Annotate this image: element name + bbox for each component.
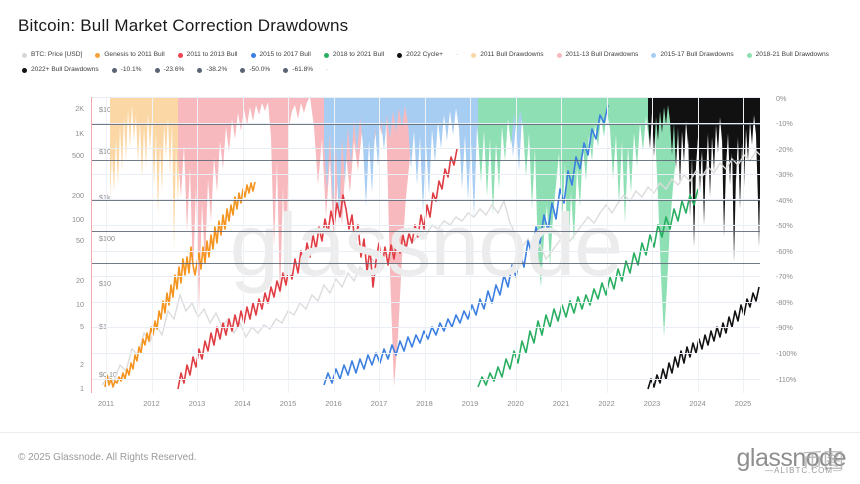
legend-swatch-icon xyxy=(471,53,476,58)
y-tick-right: -90% xyxy=(776,323,793,332)
legend-label: 2011 Bull Drawdowns xyxy=(480,52,543,59)
footer-divider xyxy=(0,432,860,433)
chart-page: Bitcoin: Bull Market Correction Drawdown… xyxy=(0,0,860,484)
y-tick-left: 500 xyxy=(58,151,84,160)
legend-item-2018-21-bull-drawdowns[interactable]: 2018-21 Bull Drawdowns xyxy=(747,52,829,59)
legend-label: -38.2% xyxy=(206,67,227,74)
legend-swatch-icon xyxy=(95,53,100,58)
chart-plot-area: 2K 1K 500 200 100 50 20 10 5 2 1 $100k $… xyxy=(0,88,860,408)
legend-swatch-icon xyxy=(112,68,117,73)
legend-swatch-icon xyxy=(197,68,202,73)
y-tick-right: -100% xyxy=(776,349,797,358)
legend-label: -23.6% xyxy=(164,67,185,74)
legend-item-2011-bull-drawdowns[interactable]: 2011 Bull Drawdowns xyxy=(471,52,543,59)
y-tick-left: 200 xyxy=(58,191,84,200)
x-tick: 2019 xyxy=(450,399,490,408)
x-tick: 2015 xyxy=(268,399,308,408)
gridline-year xyxy=(379,97,380,393)
legend-label: BTC: Price [USD] xyxy=(31,52,82,59)
y-tick-left: 50 xyxy=(58,236,84,245)
y-tick-left: 20 xyxy=(58,276,84,285)
x-tick: 2023 xyxy=(632,399,672,408)
legend-item-level-500[interactable]: -50.0% xyxy=(240,67,270,74)
x-tick: 2025 xyxy=(723,399,763,408)
gridline-minor xyxy=(92,251,760,252)
legend-label: 2011 to 2013 Bull xyxy=(187,52,238,59)
legend-swatch-icon xyxy=(557,53,562,58)
gridline-minor xyxy=(92,97,760,98)
gridline-year xyxy=(152,97,153,393)
legend-item-2018-2021-bull[interactable]: 2018 to 2021 Bull xyxy=(324,52,384,59)
gridline-minor xyxy=(92,327,760,328)
legend-item-level-382[interactable]: -38.2% xyxy=(197,67,227,74)
legend-item-2022-cycle[interactable]: 2022 Cycle+ xyxy=(397,52,443,59)
y-tick-right: -40% xyxy=(776,196,793,205)
x-tick: 2021 xyxy=(541,399,581,408)
x-tick: 2013 xyxy=(177,399,217,408)
y-tick-left: 100 xyxy=(58,215,84,224)
legend-swatch-icon xyxy=(651,53,656,58)
x-tick: 2018 xyxy=(405,399,445,408)
chart-legend: BTC: Price [USD] Genesis to 2011 Bull 20… xyxy=(22,48,840,77)
y-tick-right: -20% xyxy=(776,145,793,154)
x-tick: 2014 xyxy=(223,399,263,408)
legend-swatch-icon xyxy=(283,68,288,73)
gridline-minor xyxy=(92,276,760,277)
legend-swatch-icon xyxy=(747,53,752,58)
x-tick: 2017 xyxy=(359,399,399,408)
legend-item-spacer[interactable]: - xyxy=(456,52,458,59)
x-tick: 2022 xyxy=(587,399,627,408)
gridline-minor xyxy=(92,353,760,354)
y-tick-right: -60% xyxy=(776,247,793,256)
y-tick-right: -80% xyxy=(776,298,793,307)
gridline-year xyxy=(243,97,244,393)
legend-row-1: BTC: Price [USD] Genesis to 2011 Bull 20… xyxy=(22,48,840,62)
legend-swatch-icon xyxy=(240,68,245,73)
legend-swatch-icon xyxy=(324,53,329,58)
x-tick: 2024 xyxy=(678,399,718,408)
y-tick-right: -50% xyxy=(776,221,793,230)
y-tick-left: 1 xyxy=(58,384,84,393)
gridline-year xyxy=(561,97,562,393)
legend-swatch-icon xyxy=(22,53,27,58)
legend-item-level-236[interactable]: -23.6% xyxy=(155,67,185,74)
x-tick: 2012 xyxy=(132,399,172,408)
legend-item-level-10[interactable]: -10.1% xyxy=(112,67,142,74)
gridline-year xyxy=(743,97,744,393)
legend-label: - xyxy=(326,67,328,74)
gridline-year xyxy=(288,97,289,393)
legend-item-2022-bull-drawdowns[interactable]: 2022+ Bull Drawdowns xyxy=(22,67,99,74)
legend-swatch-icon xyxy=(22,68,27,73)
y-tick-right: 0% xyxy=(776,94,786,103)
gridline-minor xyxy=(92,379,760,380)
legend-label: 2018 to 2021 Bull xyxy=(333,52,384,59)
legend-label: -61.8% xyxy=(292,67,313,74)
legend-item-spacer-2[interactable]: - xyxy=(326,67,328,74)
gridline-year xyxy=(106,97,107,393)
y-tick-left: 1K xyxy=(58,129,84,138)
gridline-level-382 xyxy=(92,200,760,201)
copyright-text: © 2025 Glassnode. All Rights Reserved. xyxy=(18,452,197,463)
legend-item-2015-17-bull-drawdowns[interactable]: 2015-17 Bull Drawdowns xyxy=(651,52,733,59)
legend-item-btc-price[interactable]: BTC: Price [USD] xyxy=(22,52,82,59)
gridline-minor xyxy=(92,302,760,303)
gridline-level-236 xyxy=(92,160,760,161)
gridline-year xyxy=(652,97,653,393)
y-tick-left: 5 xyxy=(58,322,84,331)
legend-row-2: 2022+ Bull Drawdowns -10.1% -23.6% -38.2… xyxy=(22,63,840,77)
gridline-minor xyxy=(92,225,760,226)
y-tick-right: -70% xyxy=(776,272,793,281)
legend-label: Genesis to 2011 Bull xyxy=(104,52,164,59)
legend-item-2015-2017-bull[interactable]: 2015 to 2017 Bull xyxy=(251,52,311,59)
y-tick-right: -10% xyxy=(776,119,793,128)
gridline-minor xyxy=(92,174,760,175)
legend-label: 2018-21 Bull Drawdowns xyxy=(756,52,829,59)
gridline-minor xyxy=(92,148,760,149)
legend-swatch-icon xyxy=(251,53,256,58)
legend-item-level-618[interactable]: -61.8% xyxy=(283,67,313,74)
y-tick-left: 2K xyxy=(58,104,84,113)
gridline-year xyxy=(197,97,198,393)
legend-label: 2022 Cycle+ xyxy=(406,52,443,59)
y-tick-left: 2 xyxy=(58,360,84,369)
watermark-url: —ALIBTC.COM— xyxy=(765,466,842,475)
gridline-year xyxy=(470,97,471,393)
legend-item-2011-13-bull-drawdowns[interactable]: 2011-13 Bull Drawdowns xyxy=(557,52,639,59)
page-title: Bitcoin: Bull Market Correction Drawdown… xyxy=(18,16,348,36)
legend-item-2011-2013-bull[interactable]: 2011 to 2013 Bull xyxy=(178,52,238,59)
legend-label: 2015-17 Bull Drawdowns xyxy=(660,52,733,59)
gridline-level-10 xyxy=(92,124,760,125)
glassnode-logo: glassnode 币图 —ALIBTC.COM— xyxy=(696,442,846,480)
y-tick-right: -110% xyxy=(776,375,796,384)
gridline-year xyxy=(698,97,699,393)
gridline-year xyxy=(516,97,517,393)
gridline-year xyxy=(334,97,335,393)
plot-canvas: glassnode xyxy=(92,97,760,393)
legend-swatch-icon xyxy=(178,53,183,58)
legend-label: -50.0% xyxy=(249,67,270,74)
legend-label: -10.1% xyxy=(121,67,142,74)
legend-label: 2015 to 2017 Bull xyxy=(260,52,311,59)
x-tick: 2016 xyxy=(314,399,354,408)
y-tick-left: 10 xyxy=(58,300,84,309)
legend-label: 2011-13 Bull Drawdowns xyxy=(566,52,639,59)
y-tick-right: -30% xyxy=(776,170,793,179)
x-tick: 2011 xyxy=(86,399,126,408)
gridline-level-618 xyxy=(92,263,760,264)
legend-label: - xyxy=(456,52,458,59)
chart-series-svg xyxy=(92,97,760,393)
gridline-level-500 xyxy=(92,231,760,232)
legend-label: 2022+ Bull Drawdowns xyxy=(31,67,99,74)
x-tick: 2020 xyxy=(496,399,536,408)
series-line-genesis-2011-bull xyxy=(105,182,255,387)
legend-item-genesis-2011-bull[interactable]: Genesis to 2011 Bull xyxy=(95,52,164,59)
legend-swatch-icon xyxy=(397,53,402,58)
legend-swatch-icon xyxy=(155,68,160,73)
gridline-year xyxy=(607,97,608,393)
gridline-year xyxy=(425,97,426,393)
